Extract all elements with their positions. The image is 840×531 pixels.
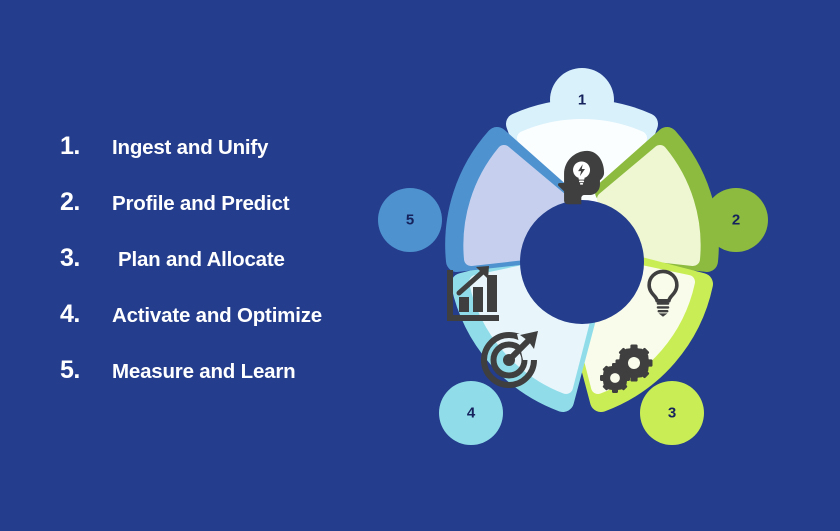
list-item-label: Profile and Predict xyxy=(112,192,289,216)
list-item: 4. Activate and Optimize xyxy=(60,300,390,356)
slide-canvas: 1. Ingest and Unify 2. Profile and Predi… xyxy=(0,0,840,531)
list-item: 5. Measure and Learn xyxy=(60,356,390,412)
list-item-label: Plan and Allocate xyxy=(112,248,285,272)
wheel-center-hole xyxy=(520,200,644,324)
list-item-label: Activate and Optimize xyxy=(112,304,322,328)
list-item-number: 4. xyxy=(60,300,112,329)
badge-label-1: 1 xyxy=(578,92,586,109)
list-item-label: Ingest and Unify xyxy=(112,136,268,160)
badge-label-2: 2 xyxy=(732,212,740,229)
list-item: 1. Ingest and Unify xyxy=(60,132,390,188)
list-item: 2. Profile and Predict xyxy=(60,188,390,244)
cycle-wheel: 1 2 3 4 5 xyxy=(372,52,792,472)
list-item: 3. Plan and Allocate xyxy=(60,244,390,300)
list-item-label: Measure and Learn xyxy=(112,360,295,384)
list-item-number: 3. xyxy=(60,244,112,273)
list-item-number: 5. xyxy=(60,356,112,385)
list-item-number: 2. xyxy=(60,188,112,217)
badge-label-4: 4 xyxy=(467,405,476,422)
badge-label-5: 5 xyxy=(406,212,414,229)
badge-label-3: 3 xyxy=(668,405,676,422)
list-item-number: 1. xyxy=(60,132,112,161)
step-list: 1. Ingest and Unify 2. Profile and Predi… xyxy=(60,132,390,412)
